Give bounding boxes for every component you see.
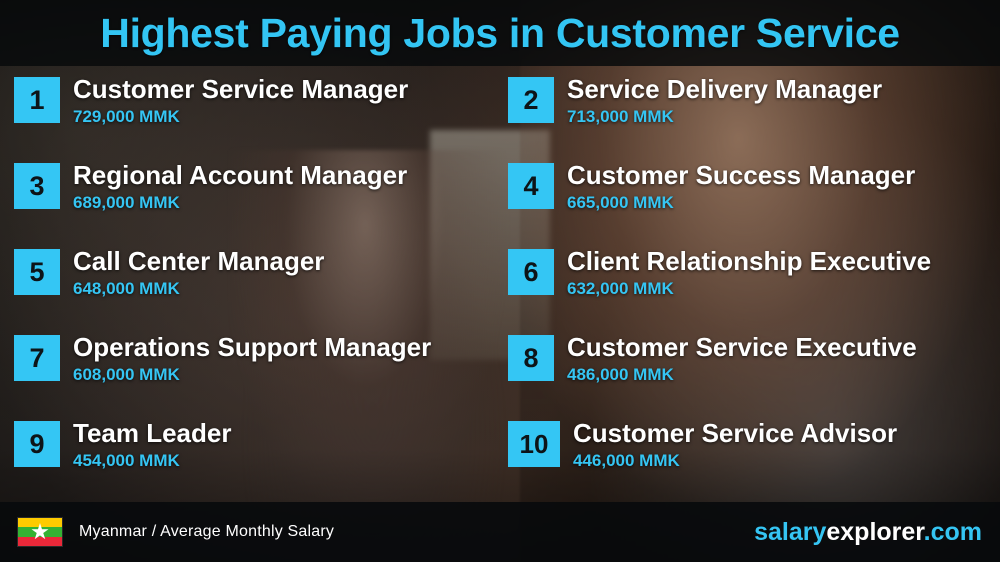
job-salary: 689,000 MMK: [73, 192, 407, 214]
site-brand[interactable]: salaryexplorer.com: [754, 518, 982, 547]
list-item[interactable]: 4 Customer Success Manager 665,000 MMK: [508, 160, 915, 222]
list-item-texts: Team Leader 454,000 MMK: [73, 418, 231, 472]
list-item[interactable]: 7 Operations Support Manager 608,000 MMK: [14, 332, 431, 394]
job-title: Operations Support Manager: [73, 332, 431, 362]
job-title: Service Delivery Manager: [567, 74, 882, 104]
job-salary: 454,000 MMK: [73, 450, 231, 472]
job-salary: 446,000 MMK: [573, 450, 897, 472]
job-title: Customer Success Manager: [567, 160, 915, 190]
jobs-list: 1 Customer Service Manager 729,000 MMK 3…: [0, 74, 1000, 502]
list-item[interactable]: 1 Customer Service Manager 729,000 MMK: [14, 74, 408, 136]
rank-badge: 10: [508, 421, 560, 467]
rank-badge: 4: [508, 163, 554, 209]
rank-badge: 8: [508, 335, 554, 381]
footer-bar: ★ Myanmar / Average Monthly Salary salar…: [0, 502, 1000, 562]
rank-badge: 1: [14, 77, 60, 123]
job-salary: 608,000 MMK: [73, 364, 431, 386]
list-item[interactable]: 8 Customer Service Executive 486,000 MMK: [508, 332, 917, 394]
brand-tld: .com: [924, 518, 982, 546]
rank-badge: 2: [508, 77, 554, 123]
rank-badge: 9: [14, 421, 60, 467]
list-item[interactable]: 5 Call Center Manager 648,000 MMK: [14, 246, 324, 308]
job-salary: 648,000 MMK: [73, 278, 324, 300]
list-item-texts: Regional Account Manager 689,000 MMK: [73, 160, 407, 214]
job-salary: 729,000 MMK: [73, 106, 408, 128]
job-salary: 486,000 MMK: [567, 364, 917, 386]
job-title: Call Center Manager: [73, 246, 324, 276]
job-title: Customer Service Manager: [73, 74, 408, 104]
job-salary: 632,000 MMK: [567, 278, 931, 300]
list-item-texts: Customer Success Manager 665,000 MMK: [567, 160, 915, 214]
list-item[interactable]: 2 Service Delivery Manager 713,000 MMK: [508, 74, 882, 136]
list-item-texts: Client Relationship Executive 632,000 MM…: [567, 246, 931, 300]
list-item-texts: Customer Service Advisor 446,000 MMK: [573, 418, 897, 472]
list-item-texts: Customer Service Manager 729,000 MMK: [73, 74, 408, 128]
job-salary: 713,000 MMK: [567, 106, 882, 128]
flag-star-icon: ★: [30, 521, 50, 543]
list-item[interactable]: 6 Client Relationship Executive 632,000 …: [508, 246, 931, 308]
rank-badge: 7: [14, 335, 60, 381]
list-item-texts: Call Center Manager 648,000 MMK: [73, 246, 324, 300]
list-item[interactable]: 9 Team Leader 454,000 MMK: [14, 418, 231, 480]
header-bar: Highest Paying Jobs in Customer Service: [0, 0, 1000, 66]
brand-salary: salary: [754, 518, 826, 546]
brand-explorer: explorer: [826, 518, 923, 546]
list-item-texts: Operations Support Manager 608,000 MMK: [73, 332, 431, 386]
rank-badge: 5: [14, 249, 60, 295]
page-title: Highest Paying Jobs in Customer Service: [100, 10, 899, 57]
job-title: Regional Account Manager: [73, 160, 407, 190]
list-item-texts: Service Delivery Manager 713,000 MMK: [567, 74, 882, 128]
footer-caption: Myanmar / Average Monthly Salary: [79, 523, 334, 541]
rank-badge: 6: [508, 249, 554, 295]
job-title: Customer Service Executive: [567, 332, 917, 362]
list-item-texts: Customer Service Executive 486,000 MMK: [567, 332, 917, 386]
job-title: Customer Service Advisor: [573, 418, 897, 448]
job-salary: 665,000 MMK: [567, 192, 915, 214]
job-title: Client Relationship Executive: [567, 246, 931, 276]
list-item[interactable]: 3 Regional Account Manager 689,000 MMK: [14, 160, 407, 222]
rank-badge: 3: [14, 163, 60, 209]
myanmar-flag-icon: ★: [17, 517, 63, 547]
list-item[interactable]: 10 Customer Service Advisor 446,000 MMK: [508, 418, 897, 480]
job-title: Team Leader: [73, 418, 231, 448]
